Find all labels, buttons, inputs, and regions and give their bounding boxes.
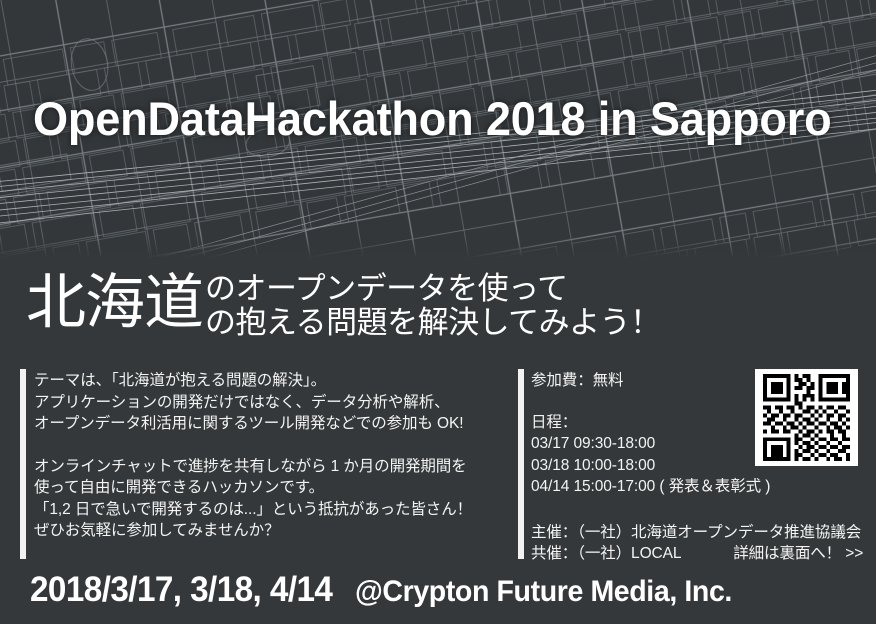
more-info-link[interactable]: 詳細は裏面へ！ >>	[733, 545, 863, 562]
qr-code[interactable]	[755, 369, 858, 466]
coorganizer-line: 共催：（一社）LOCAL 詳細は裏面へ！ >>	[531, 543, 871, 565]
theme-line-1: テーマは、「北海道が抱える問題の解決」。	[34, 370, 504, 392]
description-column: テーマは、「北海道が抱える問題の解決」。 アプリケーションの開発だけではなく、デ…	[34, 370, 504, 542]
schedule-item: 04/14 15:00-17:00 ( 発表＆表彰式 )	[531, 476, 871, 498]
headline-emphasis: 北海道	[26, 268, 203, 338]
poster-title: OpenDataHackathon 2018 in Sapporo	[33, 94, 832, 143]
theme-line-3: オープンデータ利活用に関するツール開発などでの参加も OK!	[34, 413, 504, 435]
detail-line-1: オンラインチャットで進捗を共有しながら 1 か月の開発期間を	[34, 456, 504, 478]
coorganizer-label: 共催：（一社）LOCAL	[531, 545, 681, 562]
organizer-line: 主催：（一社）北海道オープンデータ推進協議会	[531, 522, 871, 544]
headline-lines: のオープンデータを使って の抱える問題を解決してみよう！	[205, 268, 661, 340]
paragraph-gap	[34, 435, 504, 456]
headline-line-2: の抱える問題を解決してみよう！	[205, 306, 661, 340]
footer: 2018/3/17, 3/18, 4/14 @Crypton Future Me…	[30, 570, 752, 610]
headline: 北海道 のオープンデータを使って の抱える問題を解決してみよう！	[26, 268, 661, 340]
theme-line-2: アプリケーションの開発だけではなく、データ分析や解析、	[34, 392, 504, 414]
footer-dates: 2018/3/17, 3/18, 4/14	[30, 570, 332, 610]
headline-line-1: のオープンデータを使って	[205, 272, 661, 306]
accent-bar-left	[20, 369, 26, 559]
footer-venue: @Crypton Future Media, Inc.	[355, 575, 732, 609]
detail-line-2: 使って自由に開発できるハッカソンです。	[34, 477, 504, 499]
poster-root: OpenDataHackathon 2018 in Sapporo 北海道 のオ…	[0, 0, 876, 624]
detail-line-4: ぜひお気軽に参加してみませんか？	[34, 520, 504, 542]
info-gap-2	[531, 498, 871, 520]
accent-bar-right	[518, 369, 524, 559]
map-fade-overlay	[0, 236, 876, 262]
detail-line-3: 「1,2 日で急いで開発するのは...」という抵抗があった皆さん！	[34, 499, 504, 521]
